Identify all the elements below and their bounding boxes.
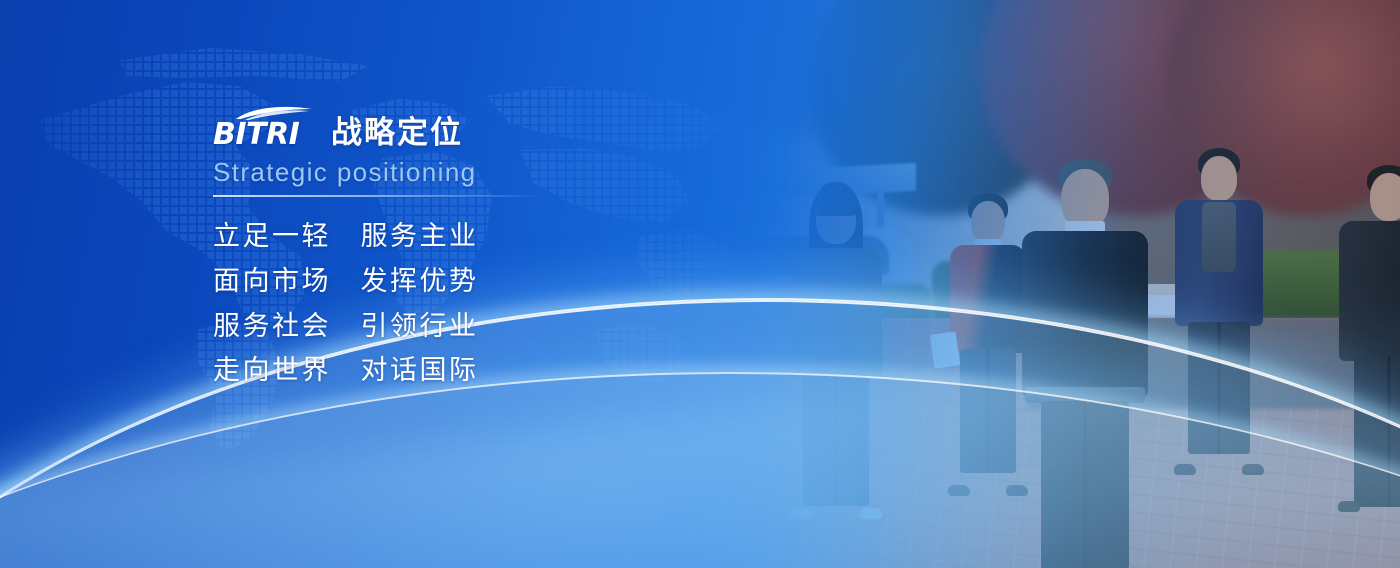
leg-gap (986, 349, 989, 473)
shoe (948, 485, 970, 496)
held-paper (930, 331, 960, 368)
person-woman-grey-jacket (776, 182, 896, 512)
torso (790, 248, 882, 378)
bitri-logo: BITRI (213, 106, 317, 150)
slogan-line: 立足一轻 服务主业 (213, 215, 773, 260)
legs (803, 374, 869, 506)
shoe (790, 508, 812, 519)
page-title: 战略定位 (331, 118, 463, 150)
torso (1022, 231, 1148, 397)
shoe (860, 508, 882, 519)
shoe (1338, 501, 1360, 512)
head (1201, 156, 1237, 201)
legs (1354, 357, 1400, 507)
slogan-line: 走向世界 对话国际 (213, 349, 773, 394)
legs (960, 349, 1016, 473)
torso (1339, 221, 1400, 361)
hair-front (813, 190, 859, 216)
person-man-dark-jacket-right (1330, 165, 1400, 505)
slogan-list: 立足一轻 服务主业 面向市场 发挥优势 服务社会 引领行业 走向世界 对话国际 (213, 215, 773, 394)
shoe (1242, 464, 1264, 475)
leg-gap (1084, 401, 1087, 568)
head (971, 201, 1005, 243)
banner-content: BITRI 战略定位 Strategic positioning 立足一轻 服务… (213, 104, 773, 394)
bitri-wordmark: BITRI (213, 120, 299, 150)
shoe (1174, 464, 1196, 475)
subtitle-english: Strategic positioning (213, 157, 773, 188)
leg-gap (1387, 357, 1390, 507)
slogan-line: 面向市场 发挥优势 (213, 260, 773, 305)
inner-shirt (1202, 202, 1236, 272)
title-divider (213, 195, 543, 197)
head (1061, 169, 1109, 229)
strategic-positioning-banner: BITRI 战略定位 Strategic positioning 立足一轻 服务… (0, 0, 1400, 568)
leg-gap (1218, 322, 1221, 454)
legs (1041, 401, 1129, 568)
logo-headline-row: BITRI 战略定位 (213, 104, 773, 150)
legs (1188, 322, 1250, 454)
head (1370, 173, 1400, 221)
slogan-line: 服务社会 引领行业 (213, 305, 773, 350)
person-man-navy-blazer (1166, 148, 1272, 468)
leg-gap (835, 374, 838, 506)
person-leader-black-jacket (1010, 159, 1160, 559)
